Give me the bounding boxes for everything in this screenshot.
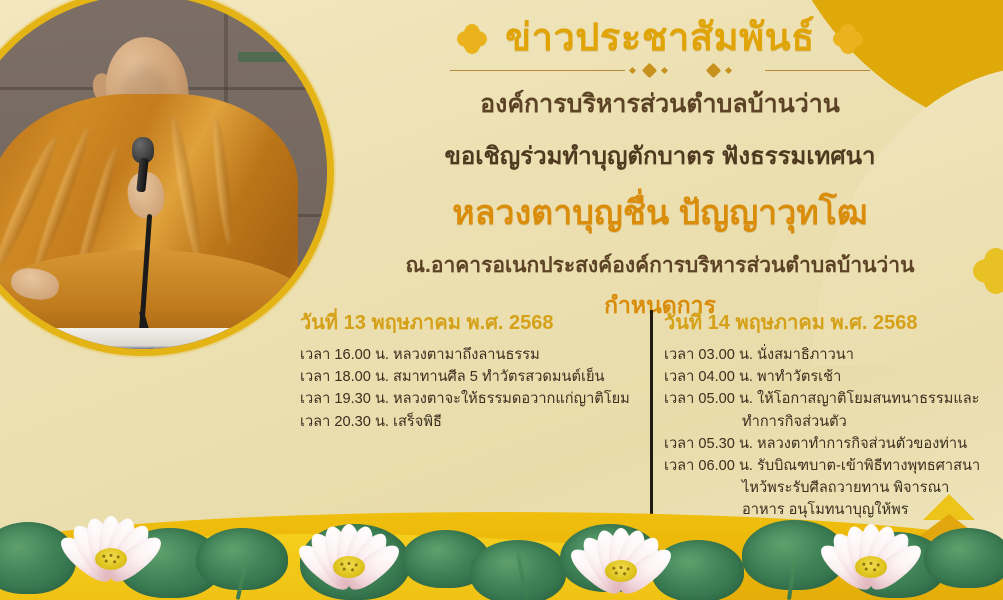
divider-dot — [629, 67, 636, 74]
lotus-seed-pod — [605, 560, 637, 582]
lotus-seed-pod — [855, 556, 887, 578]
monk-photo — [0, 0, 334, 356]
schedule-item: เวลา 03.00 น. นั่งสมาธิภาวนา — [664, 344, 1000, 366]
schedule-item: เวลา 06.00 น. รับบิณฑบาต-เข้าพิธีทางพุทธ… — [664, 455, 1000, 477]
organization-name: องค์การบริหารส่วนตำบลบ้านว่าน — [330, 84, 990, 124]
monk-photo-inner — [0, 0, 327, 349]
quatrefoil-ornament-icon — [457, 24, 487, 54]
header-block: ข่าวประชาสัมพันธ์ องค์การบริหารส่วนตำบลบ… — [330, 18, 990, 324]
monk-name: หลวงตาบุญชื่น ปัญญาวุทโฒ — [330, 185, 990, 239]
divider-diamond — [642, 63, 658, 79]
schedule-item: เวลา 05.00 น. ให้โอกาสญาติโยมสนทนาธรรมแล… — [664, 388, 1000, 410]
bottom-lotus-band — [0, 480, 1003, 600]
lotus-seed-pod — [95, 548, 127, 570]
page-title: ข่าวประชาสัมพันธ์ — [505, 18, 815, 60]
lotus-leaf — [924, 528, 1003, 588]
schedule-item: เวลา 18.00 น. สมาทานศีล 5 ทำวัตรสวดมนต์เ… — [300, 366, 634, 388]
edge-quatrefoil-ornament-icon — [973, 248, 1003, 294]
lotus-flower — [808, 498, 934, 594]
title-row: ข่าวประชาสัมพันธ์ — [330, 18, 990, 60]
invitation-line: ขอเชิญร่วมทำบุญตักบาตร ฟังธรรมเทศนา — [330, 136, 990, 175]
title-divider-flourish — [450, 64, 870, 78]
photo-cushion — [47, 328, 238, 349]
lotus-seed-pod — [333, 556, 365, 578]
poster-canvas: ข่าวประชาสัมพันธ์ องค์การบริหารส่วนตำบลบ… — [0, 0, 1003, 600]
divider-dot — [661, 67, 668, 74]
schedule-item: เวลา 20.30 น. เสร็จพิธี — [300, 411, 634, 433]
photo-green-accent — [238, 52, 298, 62]
schedule-item: เวลา 04.00 น. พาทำวัตรเช้า — [664, 366, 1000, 388]
day2-date-heading: วันที่ 14 พฤษภาคม พ.ศ. 2568 — [664, 306, 1000, 338]
lotus-flower — [286, 498, 412, 594]
quatrefoil-ornament-icon — [833, 24, 863, 54]
divider-dot — [725, 67, 732, 74]
lotus-flower — [558, 502, 684, 598]
divider-line-right — [765, 70, 870, 72]
divider-line-left — [450, 70, 625, 72]
schedule-item: เวลา 16.00 น. หลวงตามาถึงลานธรรม — [300, 344, 634, 366]
lotus-flower — [48, 490, 174, 586]
schedule-item: เวลา 19.30 น. หลวงตาจะให้ธรรมดอวากแก่ญาต… — [300, 388, 634, 410]
day1-date-heading: วันที่ 13 พฤษภาคม พ.ศ. 2568 — [300, 306, 634, 338]
schedule-item: เวลา 05.30 น. หลวงตาทำการกิจส่วนตัวของท่… — [664, 433, 1000, 455]
venue-line: ณ.อาคารอเนกประสงค์องค์การบริหารส่วนตำบลบ… — [330, 249, 990, 282]
schedule-item-continuation: ทำการกิจส่วนตัว — [664, 411, 1000, 433]
divider-diamond — [706, 63, 722, 79]
